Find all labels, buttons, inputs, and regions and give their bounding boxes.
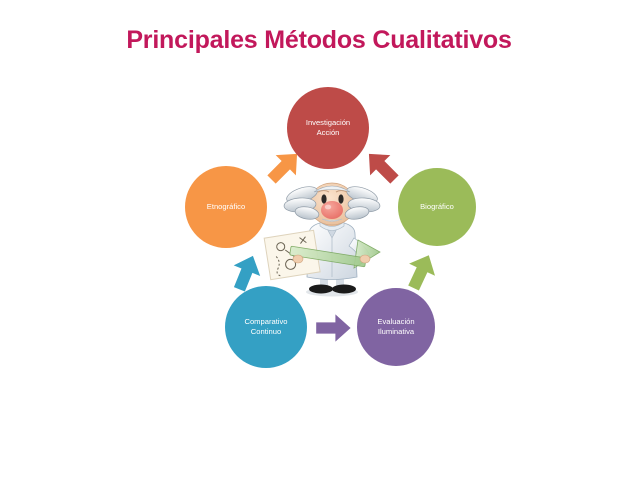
node-label: Evaluación Iluminativa — [373, 317, 418, 337]
scientist-illustration — [262, 182, 402, 300]
page-title: Principales Métodos Cualitativos — [0, 26, 638, 55]
slide-canvas: Principales Métodos Cualitativos — [0, 0, 638, 479]
node-investigacion-accion[interactable]: Investigación Acción — [287, 87, 369, 169]
nose-highlight — [325, 205, 331, 210]
hair-left — [284, 183, 320, 221]
node-label: Comparativo Continuo — [240, 317, 291, 337]
node-biografico[interactable]: Biográfico — [398, 168, 476, 246]
hand-left — [293, 255, 303, 263]
shoe-right — [332, 285, 356, 294]
node-etnografico[interactable]: Etnográfico — [185, 166, 267, 248]
hair-right — [344, 183, 380, 221]
arrow-biografico-to-evaluacion — [400, 251, 442, 293]
shoe-left — [309, 285, 333, 294]
hand-right — [360, 255, 370, 263]
eye-right — [338, 194, 343, 203]
arrow-evaluacion-to-comparativo — [312, 308, 354, 348]
nose — [321, 201, 343, 219]
node-label: Biográfico — [416, 202, 458, 212]
node-label: Investigación Acción — [302, 118, 354, 138]
node-label: Etnográfico — [203, 202, 249, 212]
eye-left — [321, 194, 326, 203]
